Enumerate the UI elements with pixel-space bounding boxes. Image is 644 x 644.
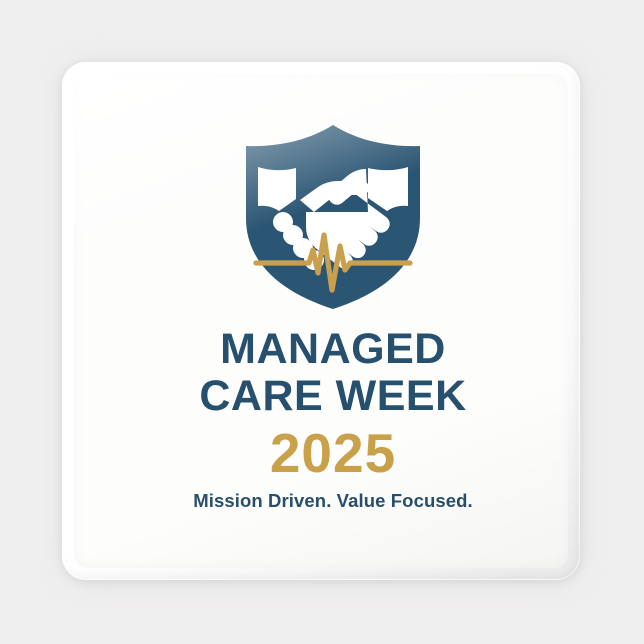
title-line-1: MANAGED bbox=[74, 326, 568, 373]
tagline-text: Mission Driven. Value Focused. bbox=[74, 490, 568, 512]
magnet-printed-face: MANAGED CARE WEEK 2025 Mission Driven. V… bbox=[74, 74, 568, 568]
year-text: 2025 bbox=[74, 424, 568, 482]
shield-handshake-heartbeat-icon bbox=[240, 122, 426, 312]
magnet-product-scene: MANAGED CARE WEEK 2025 Mission Driven. V… bbox=[0, 0, 644, 644]
square-magnet: MANAGED CARE WEEK 2025 Mission Driven. V… bbox=[62, 62, 580, 580]
title-line-2: CARE WEEK bbox=[74, 373, 568, 420]
magnet-artwork: MANAGED CARE WEEK 2025 Mission Driven. V… bbox=[74, 74, 568, 568]
title-block: MANAGED CARE WEEK 2025 Mission Driven. V… bbox=[74, 326, 568, 512]
